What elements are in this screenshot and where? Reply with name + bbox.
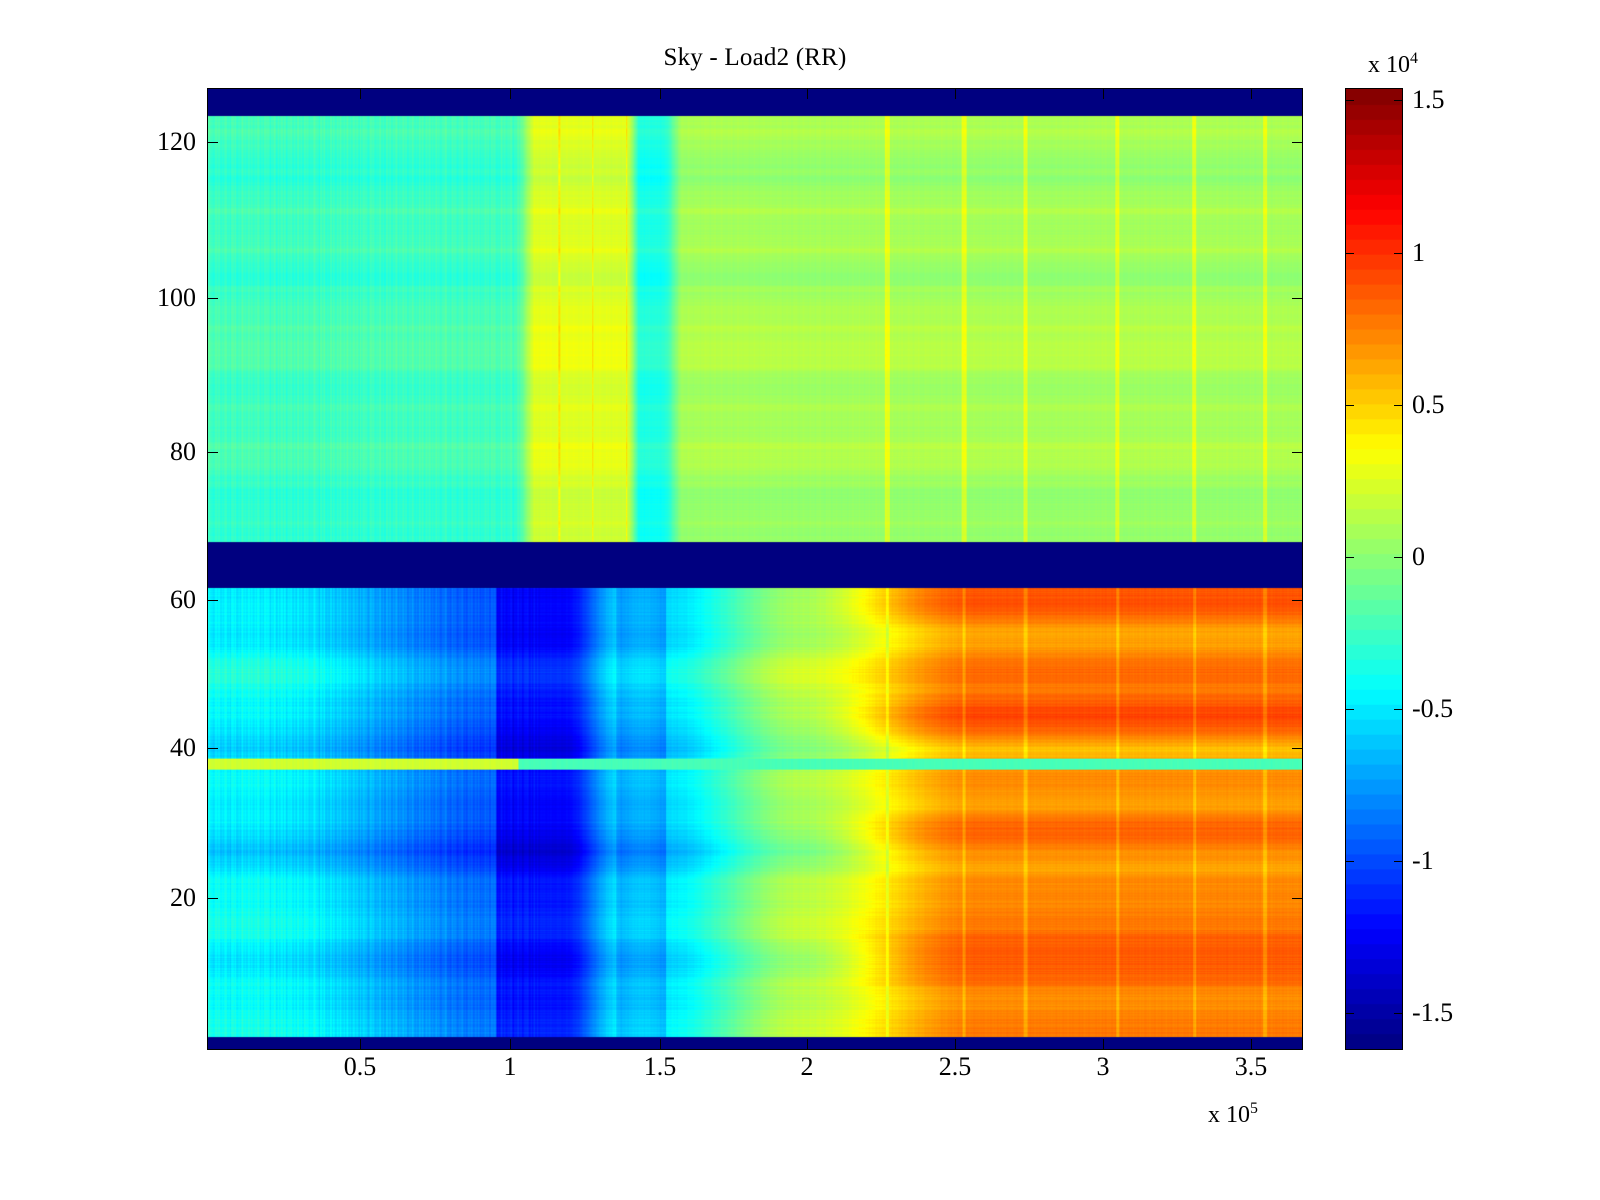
x-axis-tick-top [510, 88, 511, 99]
x-axis-tick-label: 1 [504, 1052, 517, 1082]
x-axis-tick-top [660, 88, 661, 99]
colorbar-tick-left [1345, 1013, 1354, 1014]
y-axis-tick-left [207, 452, 218, 453]
colorbar-tick-right [1394, 100, 1403, 101]
y-axis-tick-right [1292, 298, 1303, 299]
x-axis-tick-label: 3.5 [1235, 1052, 1268, 1082]
x-axis-tick-bottom [510, 1039, 511, 1050]
y-axis-tick-right [1292, 452, 1303, 453]
colorbar-tick-left [1345, 405, 1354, 406]
y-axis-tick-left [207, 142, 218, 143]
x-exponent-power: 5 [1250, 1100, 1258, 1117]
colorbar-tick-label: 0 [1412, 542, 1425, 572]
colorbar-tick-right [1394, 557, 1403, 558]
colorbar-gradient [1346, 89, 1402, 1049]
x-axis-tick-bottom [1251, 1039, 1252, 1050]
colorbar[interactable] [1345, 88, 1403, 1050]
colorbar-tick-label: 1.5 [1412, 85, 1445, 115]
y-axis-tick-label: 100 [157, 283, 196, 313]
colorbar-tick-left [1345, 861, 1354, 862]
y-axis-tick-label: 120 [157, 127, 196, 157]
colorbar-tick-label: 0.5 [1412, 390, 1445, 420]
x-axis-tick-bottom [360, 1039, 361, 1050]
x-axis-tick-bottom [955, 1039, 956, 1050]
y-axis-tick-left [207, 748, 218, 749]
x-axis-exponent-label: x 105 [1208, 1100, 1258, 1129]
y-axis-tick-right [1292, 748, 1303, 749]
colorbar-tick-right [1394, 709, 1403, 710]
colorbar-tick-left [1345, 253, 1354, 254]
x-axis-tick-label: 0.5 [344, 1052, 377, 1082]
colorbar-tick-right [1394, 405, 1403, 406]
cb-exponent-power: 4 [1410, 50, 1418, 67]
colorbar-tick-left [1345, 557, 1354, 558]
y-axis-tick-right [1292, 600, 1303, 601]
y-axis-tick-label: 20 [170, 883, 196, 913]
x-axis-tick-top [955, 88, 956, 99]
x-axis-tick-label: 1.5 [644, 1052, 677, 1082]
y-axis-tick-left [207, 898, 218, 899]
heatmap-image[interactable] [208, 89, 1302, 1049]
x-axis-tick-top [807, 88, 808, 99]
colorbar-tick-left [1345, 100, 1354, 101]
colorbar-tick-label: -1 [1412, 846, 1434, 876]
y-axis-tick-label: 60 [170, 585, 196, 615]
colorbar-tick-right [1394, 861, 1403, 862]
colorbar-tick-left [1345, 709, 1354, 710]
x-axis-tick-label: 3 [1097, 1052, 1110, 1082]
y-axis-tick-right [1292, 142, 1303, 143]
y-axis-tick-left [207, 298, 218, 299]
page-title: Sky - Load2 (RR) [0, 44, 1510, 72]
colorbar-tick-label: -0.5 [1412, 694, 1453, 724]
colorbar-tick-label: -1.5 [1412, 998, 1453, 1028]
x-axis-tick-top [1103, 88, 1104, 99]
y-axis-tick-left [207, 600, 218, 601]
cb-exponent-base: x 10 [1368, 52, 1410, 78]
x-axis-tick-label: 2.5 [939, 1052, 972, 1082]
x-axis-tick-bottom [807, 1039, 808, 1050]
x-axis-tick-top [360, 88, 361, 99]
x-axis-tick-bottom [1103, 1039, 1104, 1050]
x-axis-tick-top [1251, 88, 1252, 99]
x-exponent-base: x 10 [1208, 1102, 1250, 1128]
x-axis-tick-label: 2 [801, 1052, 814, 1082]
y-axis-tick-label: 80 [170, 437, 196, 467]
colorbar-tick-right [1394, 253, 1403, 254]
figure-root: Sky - Load2 (RR) 120100806040200.511.522… [0, 0, 1600, 1200]
colorbar-exponent-label: x 104 [1368, 50, 1418, 79]
y-axis-tick-label: 40 [170, 733, 196, 763]
colorbar-tick-right [1394, 1013, 1403, 1014]
y-axis-tick-right [1292, 898, 1303, 899]
heatmap-axes[interactable] [207, 88, 1303, 1050]
x-axis-tick-bottom [660, 1039, 661, 1050]
colorbar-tick-label: 1 [1412, 238, 1425, 268]
